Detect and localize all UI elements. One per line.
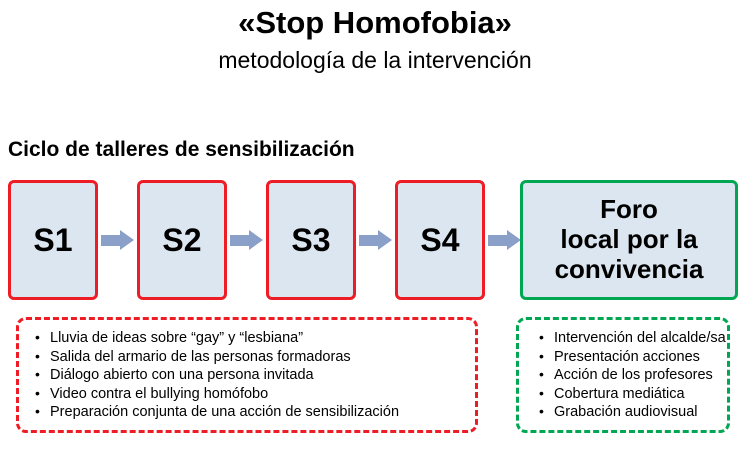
workshop-flow: S1 S2 S3 S4 Foro local por la convivenci… [8, 180, 742, 308]
arrow-head [120, 230, 134, 250]
arrow-shaft [230, 235, 250, 246]
arrow-icon-s1-s2 [101, 230, 135, 250]
forum-details-list: Intervención del alcalde/sa Presentación… [537, 329, 727, 422]
flow-node-s3-label: S3 [291, 222, 330, 259]
forum-label-line3: convivencia [555, 255, 704, 285]
list-item: Preparación conjunta de una acción de se… [33, 403, 475, 422]
arrow-icon-s4-forum [488, 230, 522, 250]
flow-node-s4-label: S4 [420, 222, 459, 259]
list-item: Intervención del alcalde/sa [537, 329, 727, 348]
page-subtitle: metodología de la intervención [0, 48, 750, 73]
list-item: Cobertura mediática [537, 385, 727, 404]
list-item: Salida del armario de las personas forma… [33, 348, 475, 367]
page-title: «Stop Homofobia» [0, 6, 750, 40]
forum-label-line1: Foro [600, 195, 658, 225]
forum-details-box: Intervención del alcalde/sa Presentación… [516, 317, 730, 433]
flow-node-s1-label: S1 [33, 222, 72, 259]
header: «Stop Homofobia» metodología de la inter… [0, 0, 750, 73]
arrow-icon-s3-s4 [359, 230, 393, 250]
workshop-details-list: Lluvia de ideas sobre “gay” y “lesbiana”… [33, 329, 475, 422]
list-item: Acción de los profesores [537, 366, 727, 385]
arrow-icon-s2-s3 [230, 230, 264, 250]
flow-node-s1: S1 [8, 180, 98, 300]
flow-node-forum: Foro local por la convivencia [520, 180, 738, 300]
list-item: Diálogo abierto con una persona invitada [33, 366, 475, 385]
arrow-head [249, 230, 263, 250]
arrow-shaft [359, 235, 379, 246]
flow-node-s4: S4 [395, 180, 485, 300]
list-item: Presentación acciones [537, 348, 727, 367]
flow-node-s3: S3 [266, 180, 356, 300]
arrow-shaft [101, 235, 121, 246]
flow-node-s2-label: S2 [162, 222, 201, 259]
list-item: Video contra el bullying homófobo [33, 385, 475, 404]
flow-node-s2: S2 [137, 180, 227, 300]
workshop-details-box: Lluvia de ideas sobre “gay” y “lesbiana”… [16, 317, 478, 433]
list-item: Lluvia de ideas sobre “gay” y “lesbiana” [33, 329, 475, 348]
arrow-head [378, 230, 392, 250]
list-item: Grabación audiovisual [537, 403, 727, 422]
arrow-head [507, 230, 521, 250]
arrow-shaft [488, 235, 508, 246]
forum-label-line2: local por la [560, 225, 697, 255]
section-heading: Ciclo de talleres de sensibilización [8, 138, 355, 162]
